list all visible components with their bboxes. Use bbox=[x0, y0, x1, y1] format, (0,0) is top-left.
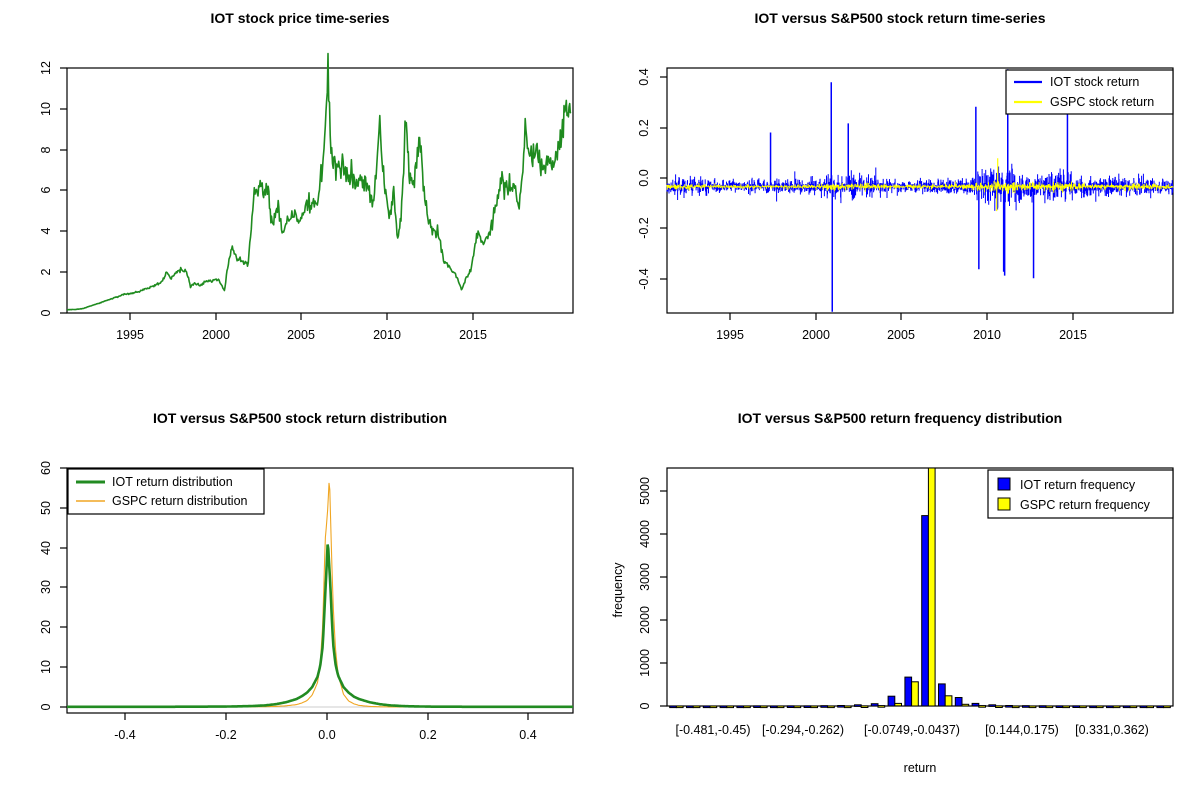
panel-3-series-gspc-density bbox=[67, 483, 573, 707]
histogram-bar bbox=[1080, 706, 1087, 708]
panel-2-ytick-3: 0.2 bbox=[637, 119, 651, 136]
histogram-bar bbox=[878, 706, 885, 708]
panel-4-ytick-0: 0 bbox=[638, 702, 652, 709]
panel-4-legend-item-1: GSPC return frequency bbox=[1020, 498, 1151, 512]
panel-return-distribution: IOT versus S&P500 stock return distribut… bbox=[0, 400, 600, 800]
panel-4-xtick-0: [-0.481,-0.45) bbox=[675, 723, 750, 737]
panel-1-plot: 0 2 4 6 8 10 12 1995 2000 2005 2010 2015 bbox=[0, 0, 600, 400]
histogram-bar bbox=[922, 516, 929, 706]
histogram-bar bbox=[727, 706, 734, 708]
histogram-bar bbox=[787, 706, 794, 708]
histogram-bar bbox=[1164, 706, 1171, 708]
panel-3-series-iot-density bbox=[67, 545, 573, 707]
panel-2-xtick-4: 2015 bbox=[1059, 328, 1087, 342]
histogram-bar bbox=[871, 704, 878, 706]
histogram-bar bbox=[962, 704, 969, 706]
histogram-bar bbox=[737, 706, 744, 708]
panel-1-ytick-6: 12 bbox=[39, 61, 53, 75]
histogram-bar bbox=[855, 705, 862, 707]
panel-2-xtick-2: 2005 bbox=[887, 328, 915, 342]
histogram-bar bbox=[1046, 706, 1053, 708]
panel-3-xtick-3: 0.2 bbox=[419, 728, 436, 742]
panel-2-xtick-1: 2000 bbox=[802, 328, 830, 342]
panel-2-ytick-4: 0.4 bbox=[637, 68, 651, 85]
histogram-bar bbox=[703, 706, 710, 708]
histogram-bar bbox=[1113, 706, 1120, 708]
histogram-bar bbox=[771, 706, 778, 708]
panel-2-legend-item-0: IOT stock return bbox=[1050, 75, 1139, 89]
histogram-bar bbox=[811, 706, 818, 708]
histogram-bar bbox=[1063, 706, 1070, 708]
panel-3-ytick-6: 60 bbox=[39, 461, 53, 475]
panel-4-ytick-3: 3000 bbox=[638, 563, 652, 591]
panel-4-ytick-4: 4000 bbox=[638, 520, 652, 548]
histogram-bar bbox=[905, 677, 912, 706]
histogram-bar bbox=[693, 706, 700, 708]
panel-4-ytick-2: 2000 bbox=[638, 606, 652, 634]
histogram-bar bbox=[821, 706, 828, 708]
panel-4-ylabel: frequency bbox=[611, 562, 625, 618]
histogram-bar bbox=[760, 706, 767, 708]
panel-3-plot: 0 10 20 30 40 50 60 -0.4 -0.2 0.0 0.2 0.… bbox=[0, 400, 600, 800]
histogram-bar bbox=[1090, 706, 1097, 708]
histogram-bar bbox=[1039, 706, 1046, 708]
panel-1-xtick-1: 2000 bbox=[202, 328, 230, 342]
panel-1-ytick-4: 8 bbox=[39, 146, 53, 153]
histogram-bar bbox=[1056, 706, 1063, 708]
panel-3-ytick-4: 40 bbox=[39, 541, 53, 555]
histogram-bar bbox=[1147, 706, 1154, 708]
histogram-bar bbox=[828, 706, 835, 708]
panel-return-frequency: IOT versus S&P500 return frequency distr… bbox=[600, 400, 1200, 800]
panel-2-xtick-3: 2010 bbox=[973, 328, 1001, 342]
panel-1-series-iot-price bbox=[67, 54, 571, 310]
histogram-bar bbox=[1029, 706, 1036, 708]
panel-3-ytick-2: 20 bbox=[39, 620, 53, 634]
histogram-bar bbox=[1096, 706, 1103, 708]
histogram-bar bbox=[912, 682, 919, 706]
panel-1-ytick-3: 6 bbox=[39, 186, 53, 193]
panel-stock-return: IOT versus S&P500 stock return time-seri… bbox=[600, 0, 1200, 400]
panel-1-ytick-2: 4 bbox=[39, 227, 53, 234]
histogram-bar bbox=[754, 706, 761, 708]
panel-3-ytick-3: 30 bbox=[39, 580, 53, 594]
histogram-bar bbox=[1140, 706, 1147, 708]
histogram-bar bbox=[777, 706, 784, 708]
panel-2-ytick-2: 0.0 bbox=[637, 169, 651, 186]
histogram-bar bbox=[794, 706, 801, 708]
panel-stock-price: IOT stock price time-series 0 2 4 6 8 10… bbox=[0, 0, 600, 400]
panel-3-ytick-0: 0 bbox=[39, 703, 53, 710]
panel-1-xtick-0: 1995 bbox=[116, 328, 144, 342]
histogram-bar bbox=[1130, 706, 1137, 708]
histogram-bar bbox=[989, 705, 996, 707]
histogram-bar bbox=[955, 698, 962, 707]
panel-3-xtick-0: -0.4 bbox=[114, 728, 136, 742]
panel-4-legend-item-0: IOT return frequency bbox=[1020, 478, 1136, 492]
histogram-bar bbox=[861, 706, 868, 708]
panel-3-xtick-1: -0.2 bbox=[215, 728, 237, 742]
plot-grid: IOT stock price time-series 0 2 4 6 8 10… bbox=[0, 0, 1200, 800]
panel-4-ytick-5: 5000 bbox=[638, 477, 652, 505]
histogram-bar bbox=[710, 706, 717, 708]
panel-3-xtick-4: 0.4 bbox=[519, 728, 536, 742]
panel-3-ytick-5: 50 bbox=[39, 501, 53, 515]
panel-2-plot: -0.4 -0.2 0.0 0.2 0.4 1995 2000 2005 201… bbox=[600, 0, 1200, 400]
histogram-bar bbox=[979, 706, 986, 708]
histogram-bar bbox=[670, 706, 677, 708]
histogram-bar bbox=[972, 703, 979, 706]
panel-1-ytick-0: 0 bbox=[39, 309, 53, 316]
histogram-bar bbox=[1123, 706, 1130, 708]
histogram-bar bbox=[676, 706, 683, 708]
histogram-bar bbox=[1012, 706, 1019, 708]
panel-4-xtick-1: [-0.294,-0.262) bbox=[762, 723, 844, 737]
histogram-bar bbox=[687, 706, 694, 708]
panel-2-xtick-0: 1995 bbox=[716, 328, 744, 342]
panel-1-ytick-5: 10 bbox=[39, 102, 53, 116]
panel-2-ytick-0: -0.4 bbox=[637, 268, 651, 290]
panel-3-legend: IOT return distribution GSPC return dist… bbox=[68, 469, 264, 514]
panel-3-legend-item-1: GSPC return distribution bbox=[112, 494, 248, 508]
panel-3-legend-item-0: IOT return distribution bbox=[112, 475, 233, 489]
panel-4-xtick-3: [0.144,0.175) bbox=[985, 723, 1059, 737]
histogram-bar bbox=[1157, 706, 1164, 708]
panel-1-xtick-4: 2015 bbox=[459, 328, 487, 342]
histogram-bar bbox=[928, 468, 935, 706]
panel-2-legend: IOT stock return GSPC stock return bbox=[1006, 70, 1173, 114]
histogram-bar bbox=[1023, 706, 1030, 708]
histogram-bar bbox=[804, 706, 811, 708]
histogram-bar bbox=[996, 706, 1003, 708]
histogram-bar bbox=[838, 706, 845, 708]
histogram-bar bbox=[1107, 706, 1114, 708]
histogram-bar bbox=[720, 706, 727, 708]
histogram-bar bbox=[895, 703, 902, 706]
histogram-bar bbox=[744, 706, 751, 708]
panel-4-xtick-2: [-0.0749,-0.0437) bbox=[864, 723, 960, 737]
panel-1-xtick-2: 2005 bbox=[287, 328, 315, 342]
panel-4-legend: IOT return frequency GSPC return frequen… bbox=[988, 470, 1173, 518]
panel-1-ytick-1: 2 bbox=[39, 268, 53, 275]
histogram-bar bbox=[888, 696, 895, 706]
histogram-bar bbox=[1073, 706, 1080, 708]
panel-3-xtick-2: 0.0 bbox=[318, 728, 335, 742]
panel-4-ytick-1: 1000 bbox=[638, 649, 652, 677]
panel-1-xtick-3: 2010 bbox=[373, 328, 401, 342]
histogram-bar bbox=[939, 684, 946, 706]
histogram-bar bbox=[1006, 706, 1013, 708]
panel-4-xtick-4: [0.331,0.362) bbox=[1075, 723, 1149, 737]
panel-4-plot: 0 1000 2000 3000 4000 5000 frequency ret… bbox=[600, 400, 1200, 800]
histogram-bar bbox=[844, 706, 851, 708]
panel-2-legend-item-1: GSPC stock return bbox=[1050, 95, 1154, 109]
panel-4-xlabel: return bbox=[904, 761, 937, 775]
panel-2-ytick-1: -0.2 bbox=[637, 217, 651, 239]
panel-3-ytick-1: 10 bbox=[39, 660, 53, 674]
histogram-bar bbox=[945, 696, 952, 706]
